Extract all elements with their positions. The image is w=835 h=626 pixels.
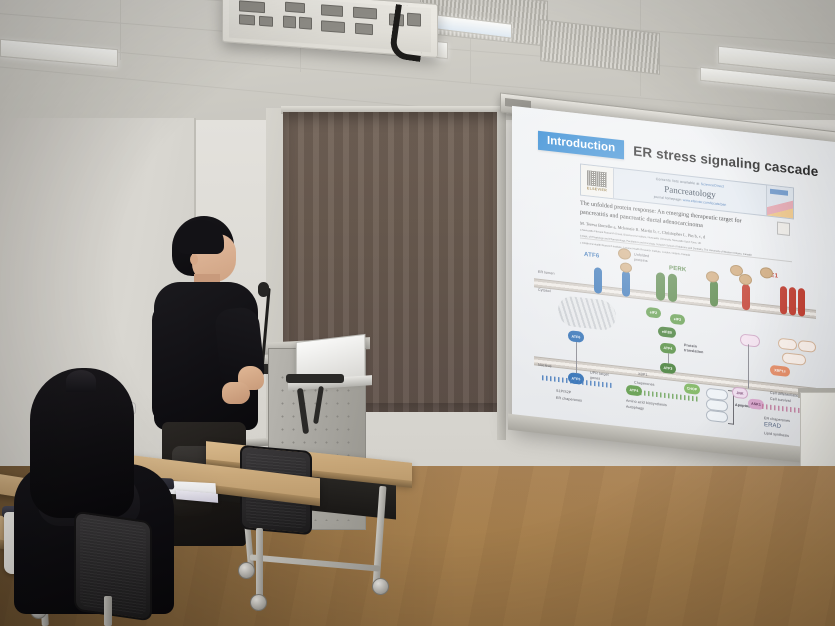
trb3-node bbox=[706, 410, 728, 423]
chair-mesh bbox=[80, 517, 146, 614]
projection-screen: Introduction ER stress signaling cascade… bbox=[512, 106, 835, 464]
chair-caster bbox=[250, 594, 267, 611]
ire1-receptor-cluster bbox=[789, 287, 796, 316]
chair-base bbox=[256, 528, 263, 598]
eif2a-node: eIF2 bbox=[670, 314, 685, 326]
autophagy-label: Autophagy bbox=[626, 405, 644, 411]
journal-homepage-url: www.elsevier.com/locate/pan bbox=[683, 198, 727, 207]
xbp1s-node bbox=[778, 338, 797, 351]
bip-chaperone bbox=[618, 248, 631, 260]
ire1-receptor-cluster bbox=[798, 288, 805, 317]
lipid-synthesis-label: Lipid synthesis bbox=[764, 431, 789, 438]
perk-label: PERK bbox=[669, 265, 686, 273]
protein-translation-label: Protein translation bbox=[684, 343, 712, 356]
connector-line bbox=[576, 342, 577, 373]
podium-cables bbox=[286, 374, 344, 383]
connector-line bbox=[668, 353, 669, 363]
s1p-s2p-label: S1P/S2P bbox=[556, 389, 571, 395]
journal-cover-thumbnail bbox=[766, 185, 793, 218]
atf6-receptor bbox=[594, 267, 602, 294]
cytosol-label: Cytosol bbox=[538, 288, 551, 293]
xbp1s-active-node: XBP1s bbox=[770, 365, 790, 377]
presenter-left-hand bbox=[222, 382, 250, 404]
atf6-receptor bbox=[622, 270, 630, 297]
presenter-ear bbox=[190, 254, 198, 265]
wall-edge-trim bbox=[497, 110, 506, 440]
lecture-room-photo: Introduction ER stress signaling cascade… bbox=[0, 0, 835, 626]
cell-survival-label: Cell survival bbox=[770, 397, 791, 403]
ire1-receptor-cluster bbox=[780, 286, 787, 315]
nucleus-label: Nucleus bbox=[538, 363, 552, 369]
chop-node: CHOP bbox=[684, 383, 700, 395]
audience-chair bbox=[74, 511, 152, 622]
perk-receptor bbox=[656, 272, 665, 301]
atf6-label: ATF6 bbox=[584, 252, 599, 260]
traf2-node bbox=[740, 333, 760, 347]
bip-chaperone bbox=[739, 273, 752, 285]
er-stress-pathway-diagram: ER lumen Cytosol Nucleus ATF6 PERK IRE1 … bbox=[534, 238, 816, 448]
perk-receptor bbox=[668, 273, 677, 302]
presentation-slide: Introduction ER stress signaling cascade… bbox=[512, 106, 835, 464]
slide-section-badge: Introduction bbox=[538, 131, 624, 160]
xbp1u-node bbox=[782, 352, 806, 366]
golgi-complex bbox=[558, 295, 616, 332]
audience-hair-part bbox=[66, 370, 96, 392]
eif2b-node: eIF2B bbox=[658, 326, 676, 338]
desk-caster bbox=[238, 562, 255, 579]
atf3-node: ATF3 bbox=[660, 362, 676, 374]
perk-receptor bbox=[710, 280, 718, 307]
elsevier-tree-icon bbox=[587, 170, 607, 187]
audience-chair-post bbox=[104, 596, 112, 626]
desk-caster bbox=[372, 578, 389, 595]
crossmark-icon bbox=[777, 222, 790, 236]
atf6-cleaved-node: ATF6 bbox=[568, 330, 584, 343]
elsevier-logo: ELSEVIER bbox=[581, 165, 614, 199]
connector-line bbox=[748, 344, 749, 388]
er-lumen-label: ER lumen bbox=[538, 270, 555, 276]
erad-label: ERAD bbox=[764, 422, 781, 430]
rtcb-node bbox=[798, 340, 816, 353]
er-chaperones-label: ER chaperones bbox=[556, 396, 582, 403]
journal-homepage-label: journal homepage: bbox=[654, 195, 682, 202]
unfolded-proteins-label: Unfolded proteins bbox=[634, 253, 660, 265]
bip-chaperone bbox=[760, 267, 773, 279]
bip-chaperone bbox=[706, 271, 719, 283]
ire1-receptor bbox=[742, 284, 750, 311]
eif2a-node: eIF2 bbox=[646, 307, 661, 319]
jnk-node: JNK bbox=[732, 387, 748, 400]
